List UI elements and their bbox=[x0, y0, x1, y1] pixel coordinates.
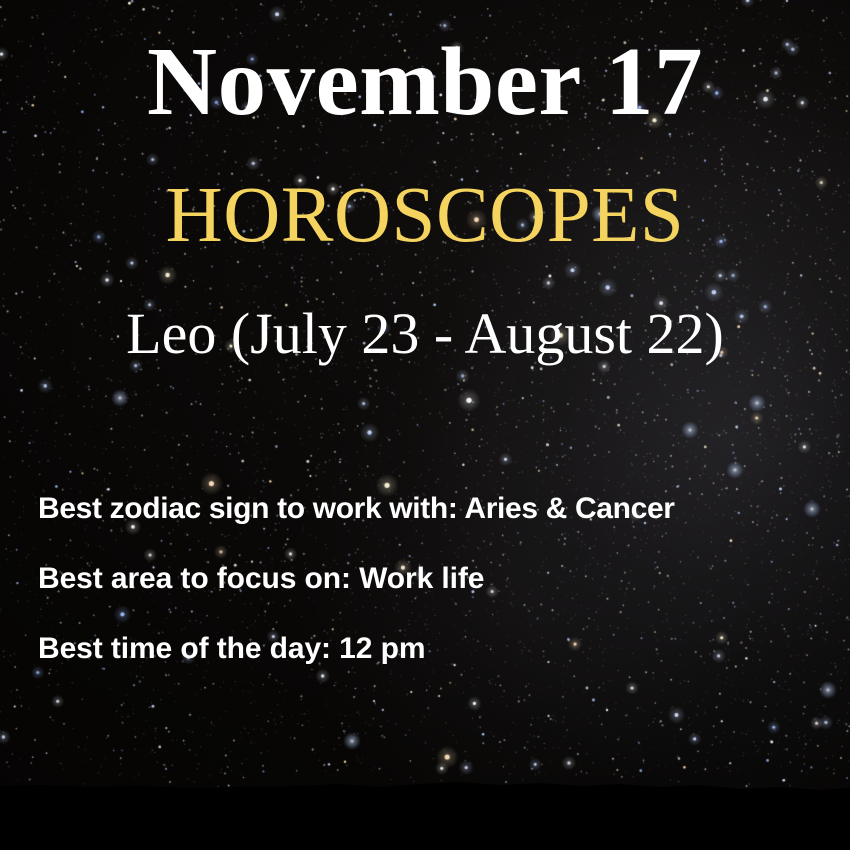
page-title: November 17 bbox=[0, 33, 850, 130]
fact-list: Best zodiac sign to work with: Aries & C… bbox=[38, 494, 828, 664]
horizon-silhouette bbox=[0, 760, 850, 850]
fact-best-time: Best time of the day: 12 pm bbox=[38, 634, 828, 664]
fact-best-area: Best area to focus on: Work life bbox=[38, 564, 828, 594]
fact-best-zodiac-sign: Best zodiac sign to work with: Aries & C… bbox=[38, 494, 828, 524]
zodiac-sign-range: Leo (July 23 - August 22) bbox=[0, 305, 850, 363]
horoscope-card: November 17 HOROSCOPES Leo (July 23 - Au… bbox=[0, 0, 850, 850]
section-title: HOROSCOPES bbox=[0, 176, 850, 255]
